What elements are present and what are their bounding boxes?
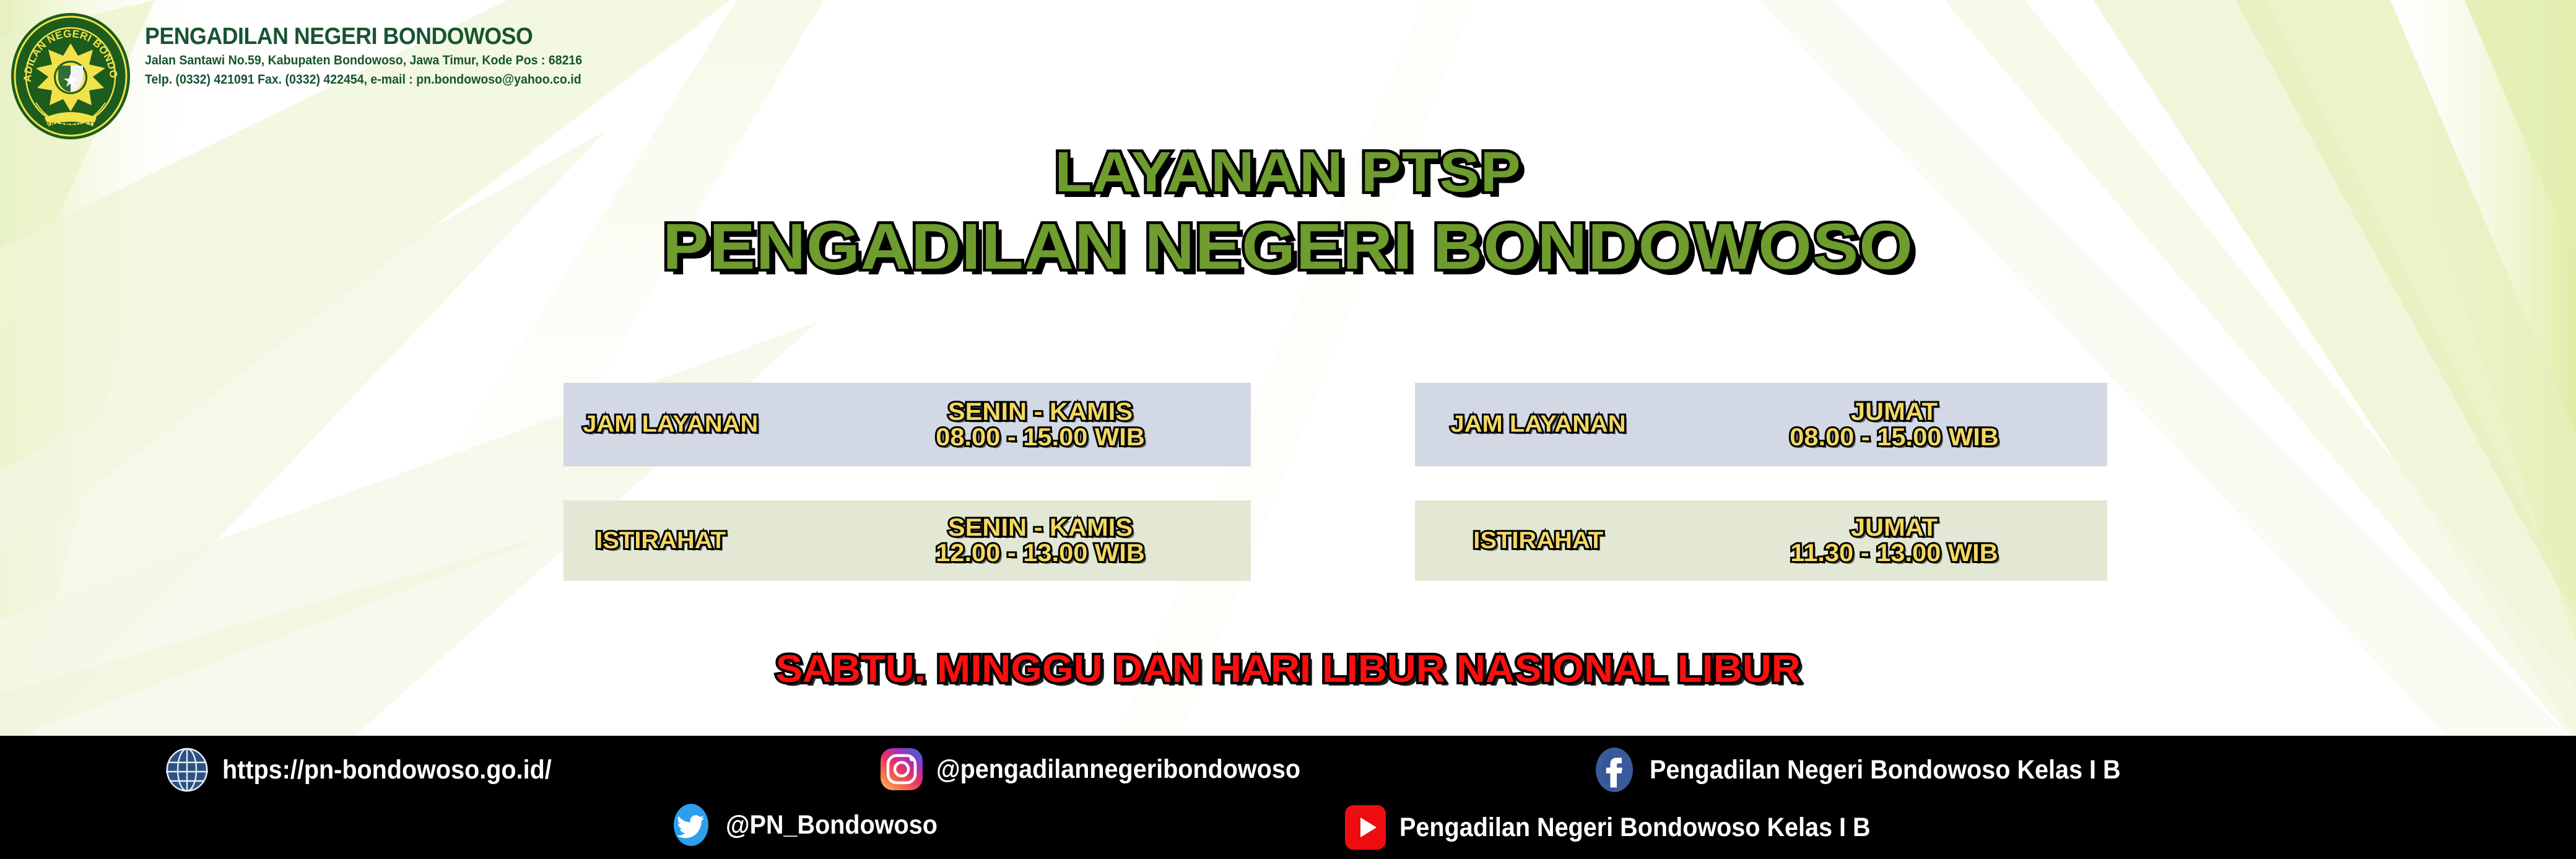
schedule-label: ISTIRAHAT — [1408, 528, 1688, 554]
schedule-time: 11.30 - 13.00 WIB — [1673, 541, 2116, 566]
title-line-2: PENGADILAN NEGERI BONDOWOSO — [0, 214, 2576, 279]
header-text-block: PENGADILAN NEGERI BONDOWOSO Jalan Santaw… — [145, 11, 615, 87]
footer-item-twitter[interactable]: @PN_Bondowoso — [669, 803, 956, 847]
schedule-time: 08.00 - 15.00 WIB — [1673, 425, 2116, 450]
holiday-notice-text: SABTU. MINGGU DAN HARI LIBUR NASIONAL LI… — [775, 647, 1800, 691]
court-seal-logo: PENGADILAN NEGERI BONDOWOSO DHARMAYUKTI — [9, 11, 133, 141]
org-name: PENGADILAN NEGERI BONDOWOSO — [145, 25, 587, 48]
footer-bar: https://pn-bondowoso.go.id/ — [0, 736, 2576, 859]
banner-root: PENGADILAN NEGERI BONDOWOSO DHARMAYUKTI — [0, 0, 2576, 859]
schedule-box-jam-layanan-senin-kamis: JAM LAYANAN SENIN - KAMIS 08.00 - 15.00 … — [563, 383, 1251, 466]
instagram-icon — [879, 747, 924, 791]
footer-item-instagram[interactable]: @pengadilannegeribondowoso — [879, 747, 1332, 791]
footer-instagram-label: @pengadilannegeribondowoso — [936, 754, 1300, 785]
holiday-notice: SABTU. MINGGU DAN HARI LIBUR NASIONAL LI… — [0, 647, 2576, 691]
schedule-box-istirahat-jumat: ISTIRAHAT JUMAT 11.30 - 13.00 WIB — [1415, 500, 2107, 581]
footer-youtube-label: Pengadilan Negeri Bondowoso Kelas I B — [1399, 813, 1871, 843]
page-title: LAYANAN PTSP PENGADILAN NEGERI BONDOWOSO — [0, 144, 2576, 279]
seal-ribbon-text: DHARMAYUKTI — [46, 121, 95, 127]
footer-item-website[interactable]: https://pn-bondowoso.go.id/ — [164, 747, 580, 793]
schedule-value: SENIN - KAMIS 12.00 - 13.00 WIB — [830, 515, 1251, 566]
footer-facebook-label: Pengadilan Negeri Bondowoso Kelas I B — [1650, 755, 2121, 785]
twitter-icon — [669, 803, 713, 847]
schedule-label: ISTIRAHAT — [557, 528, 837, 554]
title-line-1: LAYANAN PTSP — [0, 144, 2576, 201]
footer-item-youtube[interactable]: Pengadilan Negeri Bondowoso Kelas I B — [1344, 803, 1912, 852]
footer-website-label: https://pn-bondowoso.go.id/ — [222, 755, 552, 785]
contact-line: Telp. (0332) 421091 Fax. (0332) 422454, … — [145, 73, 582, 87]
youtube-icon — [1344, 803, 1387, 852]
address-line: Jalan Santawi No.59, Kabupaten Bondowoso… — [145, 54, 582, 68]
schedule-value: SENIN - KAMIS 08.00 - 15.00 WIB — [830, 399, 1251, 450]
footer-item-facebook[interactable]: Pengadilan Negeri Bondowoso Kelas I B — [1591, 747, 2162, 793]
schedule-day: JUMAT — [1673, 399, 2116, 425]
footer-twitter-label: @PN_Bondowoso — [726, 810, 938, 840]
schedule-label: JAM LAYANAN — [1408, 411, 1688, 438]
schedule-day: JUMAT — [1673, 515, 2116, 541]
schedule-box-istirahat-senin-kamis: ISTIRAHAT SENIN - KAMIS 12.00 - 13.00 WI… — [563, 500, 1251, 581]
schedule-value: JUMAT 08.00 - 15.00 WIB — [1681, 399, 2107, 450]
schedule-time: 12.00 - 13.00 WIB — [821, 541, 1259, 566]
globe-icon — [164, 747, 210, 793]
schedule-value: JUMAT 11.30 - 13.00 WIB — [1681, 515, 2107, 566]
schedule-label: JAM LAYANAN — [557, 411, 837, 438]
schedule-box-jam-layanan-jumat: JAM LAYANAN JUMAT 08.00 - 15.00 WIB — [1415, 383, 2107, 466]
facebook-icon — [1591, 747, 1637, 793]
schedule-time: 08.00 - 15.00 WIB — [821, 425, 1259, 450]
schedule-day: SENIN - KAMIS — [821, 515, 1259, 541]
header-block: PENGADILAN NEGERI BONDOWOSO DHARMAYUKTI — [0, 0, 681, 142]
schedule-day: SENIN - KAMIS — [821, 399, 1259, 425]
